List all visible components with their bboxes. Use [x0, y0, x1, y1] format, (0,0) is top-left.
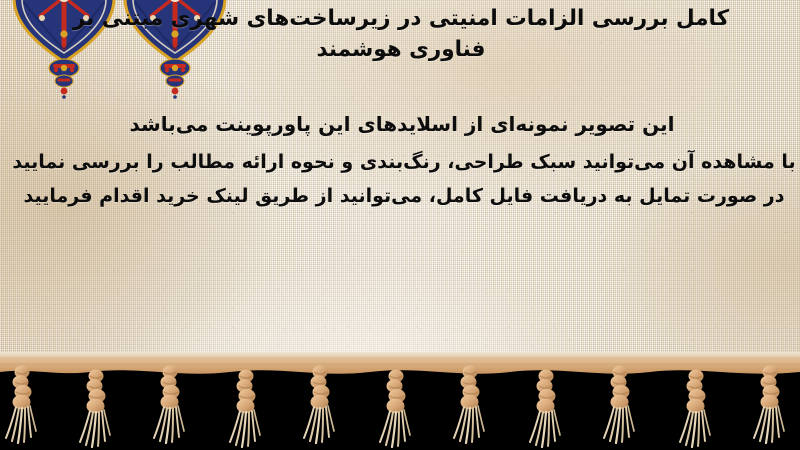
- slide-title-line-2: فناوری هوشمند: [10, 35, 792, 66]
- slide-title-line-1: کامل بررسی الزامات امنیتی در زیرساخت‌های…: [10, 4, 792, 35]
- slide-body-line-3: در صورت تمایل به دریافت فایل کامل، می‌تو…: [4, 181, 800, 212]
- carpet-fringe-zone: [0, 352, 800, 450]
- slide-title: کامل بررسی الزامات امنیتی در زیرساخت‌های…: [10, 4, 792, 65]
- slide-canvas: کامل بررسی الزامات امنیتی در زیرساخت‌های…: [0, 0, 800, 450]
- slide-text-layer: کامل بررسی الزامات امنیتی در زیرساخت‌های…: [0, 0, 800, 378]
- slide-body: این تصویر نمونه‌ای از اسلایدهای این پاور…: [4, 108, 800, 215]
- slide-body-line-1: این تصویر نمونه‌ای از اسلایدهای این پاور…: [4, 108, 800, 140]
- slide-body-line-2: با مشاهده آن می‌توانید سبک طراحی، رنگ‌بن…: [4, 147, 800, 178]
